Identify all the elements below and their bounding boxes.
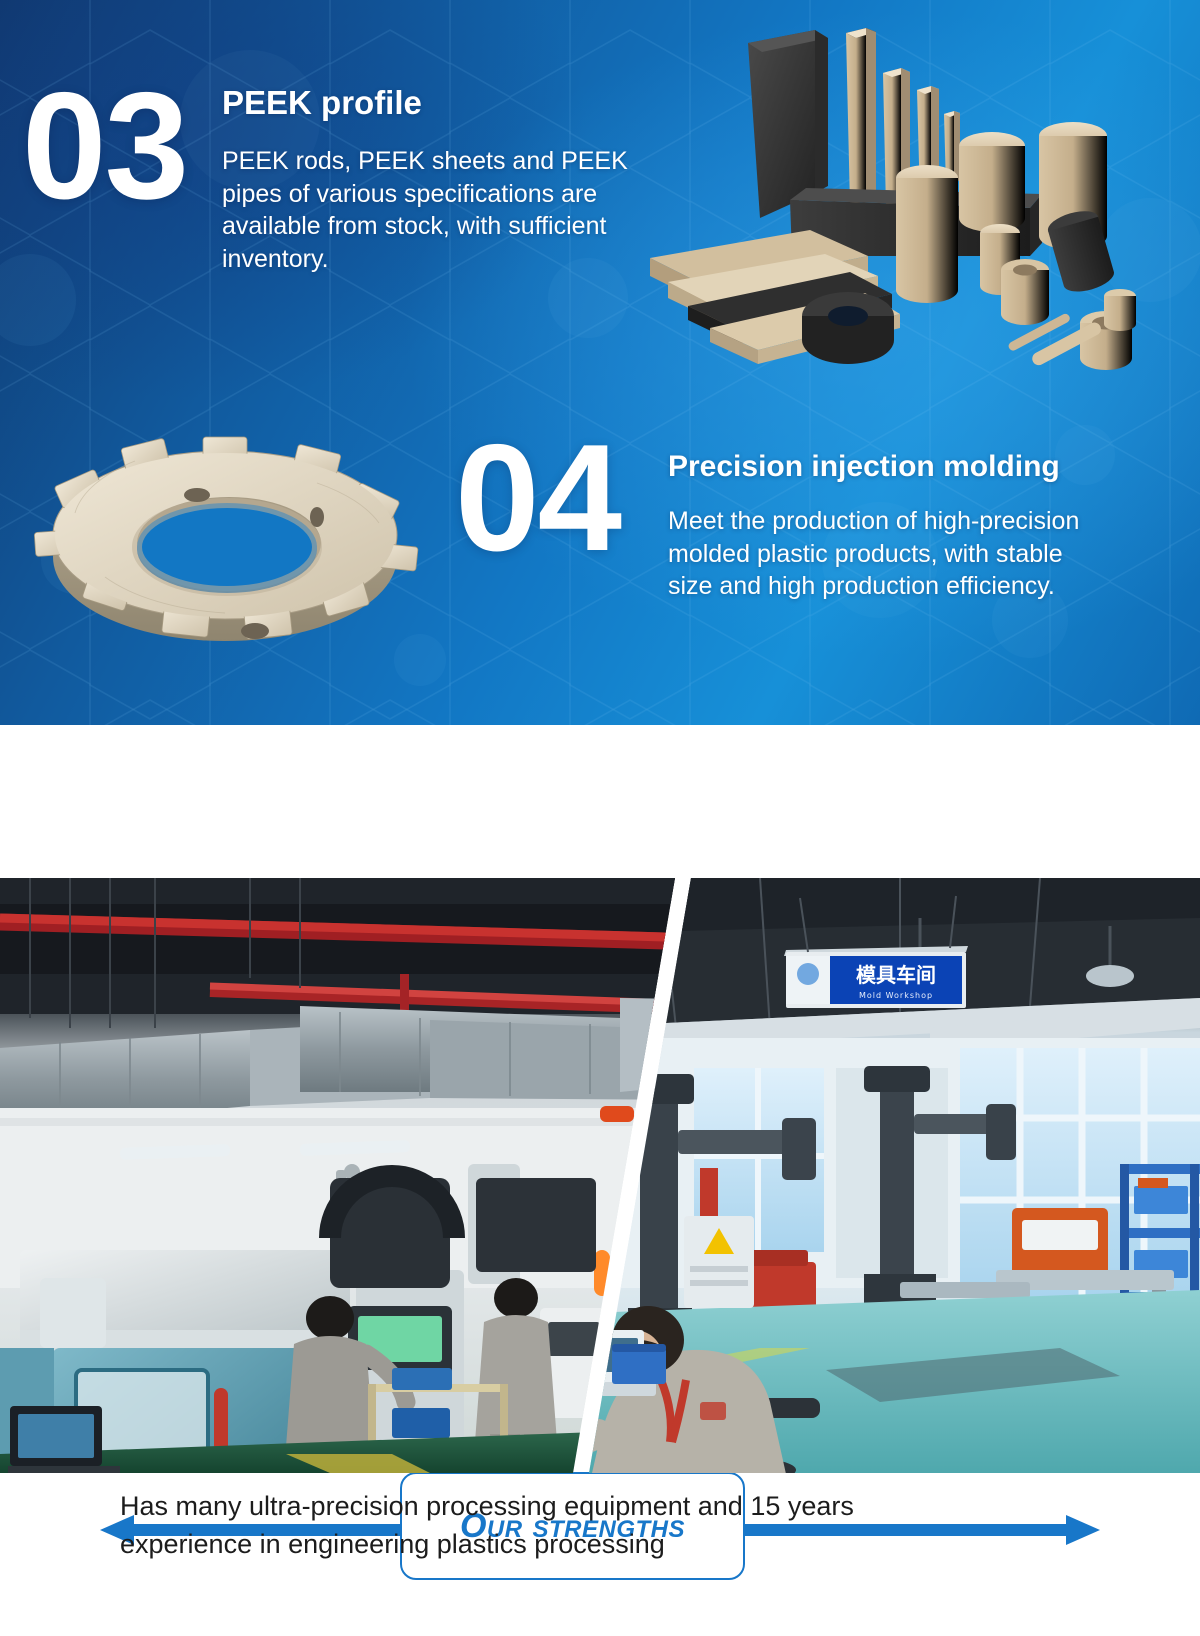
block-title-peek-profile: PEEK profile [222,84,422,122]
block-title-precision-injection-molding: Precision injection molding [668,450,1060,484]
block-number-04: 04 [455,436,620,561]
caption-line-2: experience in engineering plastics proce… [120,1525,1100,1563]
peek-injection-molded-gear-image [10,385,440,675]
page-caption: Has many ultra-precision processing equi… [120,1487,1100,1564]
workshop-photo-strip: 模具车间 Mold Workshop [0,878,1200,1473]
product-feature-page: 03 PEEK profile PEEK rods, PEEK sheets a… [0,0,1200,1636]
svg-text:模具车间: 模具车间 [856,963,936,987]
caption-line-1: Has many ultra-precision processing equi… [120,1487,1100,1525]
svg-text:Mold Workshop: Mold Workshop [859,991,933,1000]
block-body-precision-injection-molding: Meet the production of high-precision mo… [668,505,1108,603]
block-number-03: 03 [22,84,187,209]
hero-panel: 03 PEEK profile PEEK rods, PEEK sheets a… [0,0,1200,725]
peek-profile-product-image [610,18,1190,378]
block-body-peek-profile: PEEK rods, PEEK sheets and PEEK pipes of… [222,145,662,275]
